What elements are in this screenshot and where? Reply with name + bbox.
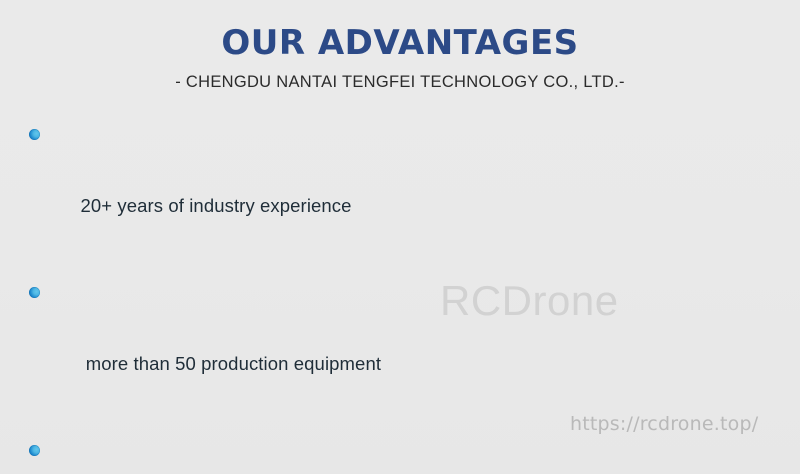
company-subtitle: - CHENGDU NANTAI TENGFEI TECHNOLOGY CO.,… (0, 73, 800, 92)
list-item: 20+ years of industry experience (29, 116, 800, 260)
page-title: OUR ADVANTAGES (0, 26, 800, 62)
blue-sphere-bullet-icon (29, 129, 40, 140)
advantages-list: 20+ years of industry experience more th… (0, 116, 800, 474)
blue-sphere-bullet-icon (29, 287, 40, 298)
list-item: more than 50 production equipment (29, 274, 800, 418)
advantage-text: more than 50 production equipment (80, 353, 381, 374)
blue-sphere-bullet-icon (29, 445, 40, 456)
advantage-text: 20+ years of industry experience (80, 195, 351, 216)
list-item: The minimum delivery time of air transpo… (29, 432, 800, 474)
header: OUR ADVANTAGES - CHENGDU NANTAI TENGFEI … (0, 0, 800, 92)
advantages-banner: RCDrone OUR ADVANTAGES - CHENGDU NANTAI … (0, 0, 800, 474)
